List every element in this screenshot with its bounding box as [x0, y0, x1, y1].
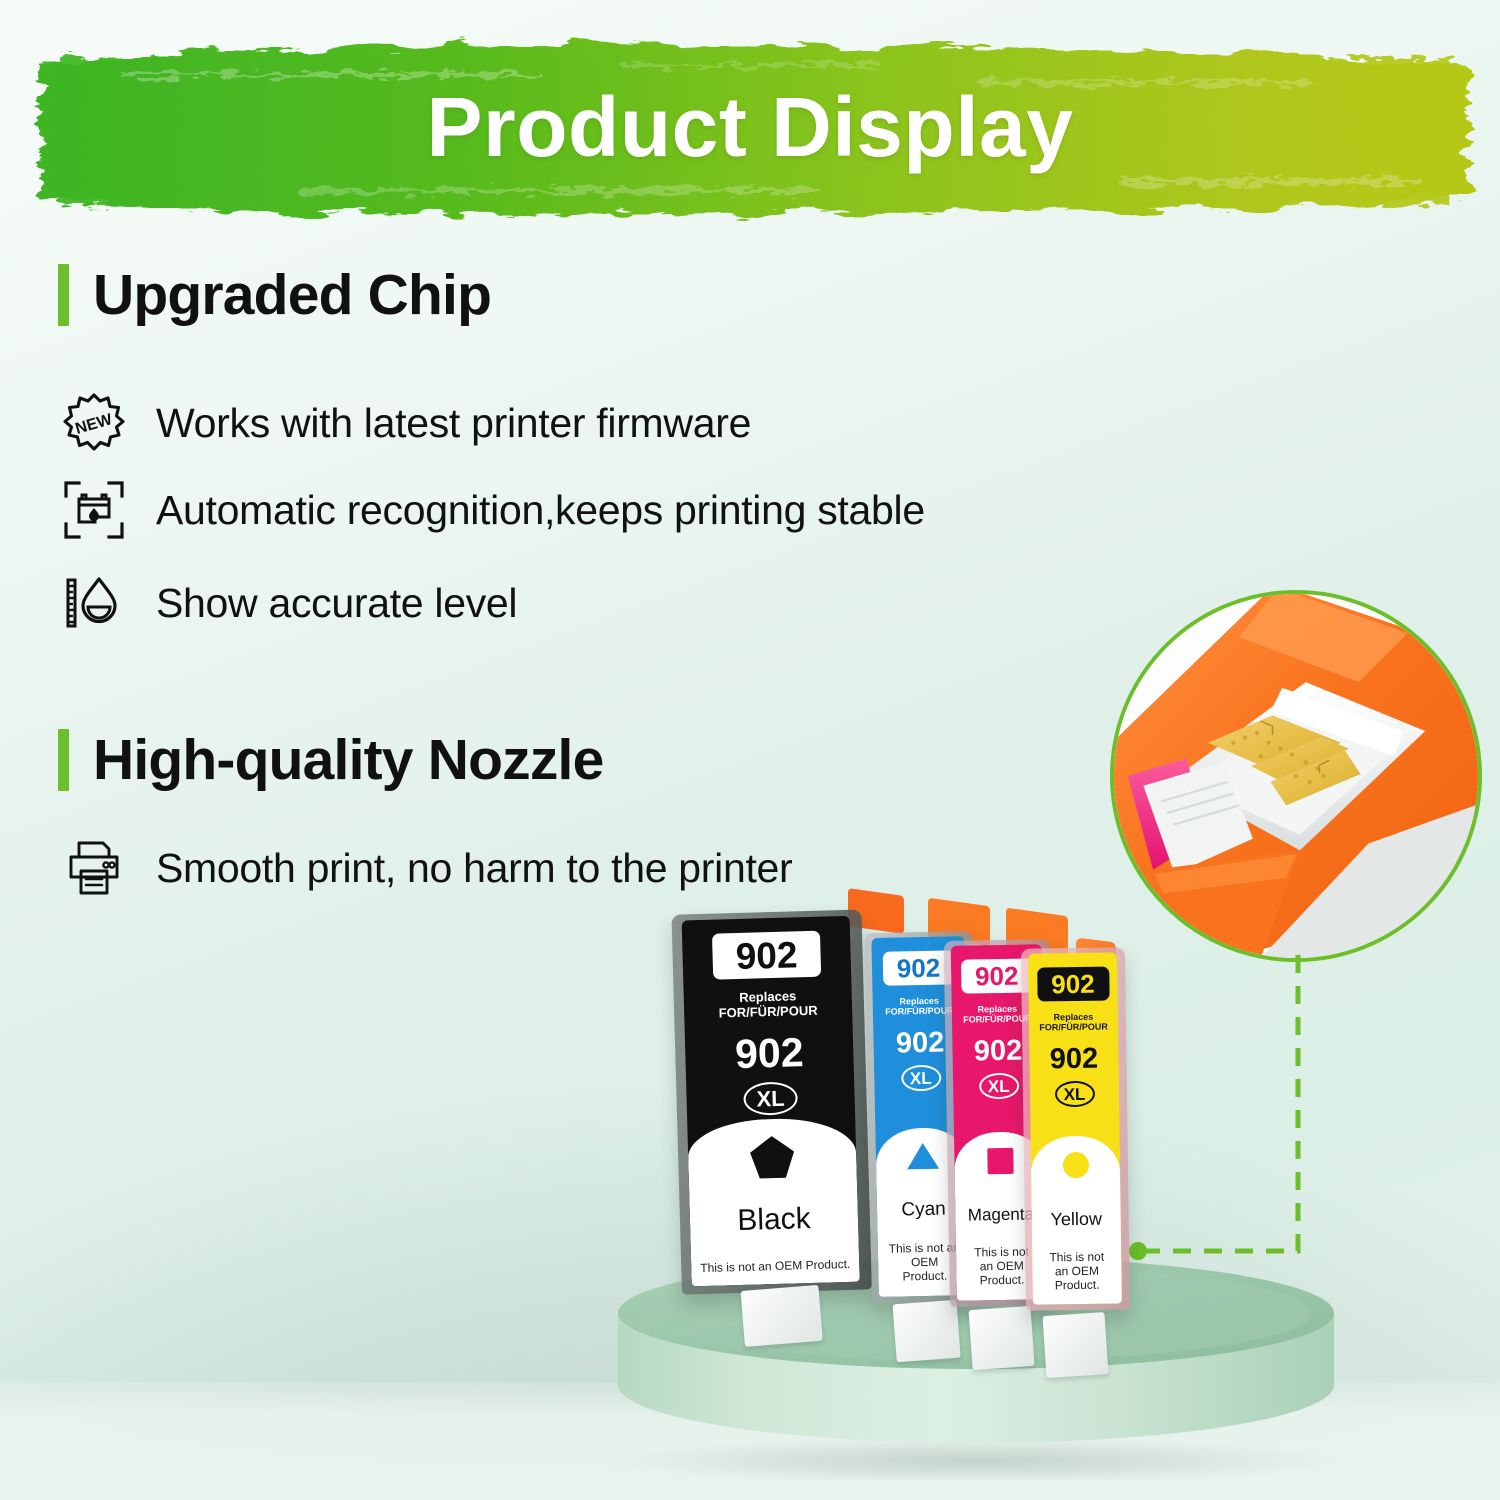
color-name: Black: [737, 1204, 811, 1236]
model-large: 902: [896, 1029, 945, 1059]
xl-badge: XL: [978, 1073, 1018, 1100]
replaces-text: Replaces FOR/FÜR/POUR: [1039, 1012, 1108, 1033]
heading-accent-bar: [58, 264, 69, 326]
cartridge-foot: [741, 1285, 823, 1347]
ink-level-gauge-icon: [58, 567, 130, 639]
cartridge-black[interactable]: 902 Replaces FOR/FÜR/POUR 902 XL Black T…: [671, 909, 872, 1294]
replaces-line2: FOR/FÜR/POUR: [719, 1003, 818, 1020]
color-name: Yellow: [1050, 1210, 1102, 1229]
cartridge-foot: [1043, 1312, 1109, 1378]
replaces-line2: FOR/FÜR/POUR: [1039, 1022, 1108, 1033]
scan-cartridge-icon: [58, 474, 130, 546]
model-large: 902: [974, 1037, 1023, 1067]
cartridge-label: 902 Replaces FOR/FÜR/POUR 902 XL Black T…: [682, 916, 860, 1287]
model-badge: 902: [1037, 967, 1109, 1002]
cartridge-label: 902 Replaces FOR/FÜR/POUR 902 XL Yellow …: [1028, 952, 1122, 1304]
ink-shape-pentagon: [749, 1134, 796, 1179]
heading-text: High-quality Nozzle: [93, 727, 603, 793]
printer-icon: [58, 832, 130, 904]
model-badge: 902: [712, 931, 821, 980]
section-heading-upgraded-chip: Upgraded Chip: [58, 262, 491, 328]
replaces-text: Replaces FOR/FÜR/POUR: [718, 989, 818, 1021]
ink-shape-triangle: [905, 1142, 940, 1171]
feature-label: Show accurate level: [156, 580, 517, 627]
feature-row-recognition: Automatic recognition,keeps printing sta…: [58, 474, 925, 546]
oem-notice: This is not an OEM Product.: [700, 1257, 850, 1275]
replaces-line2: FOR/FÜR/POUR: [885, 1005, 954, 1017]
xl-badge: XL: [901, 1065, 942, 1092]
cartridge-white-zone: Yellow This is not an OEM Product.: [1031, 1135, 1122, 1304]
heading-text: Upgraded Chip: [93, 262, 491, 328]
heading-accent-bar: [58, 729, 69, 791]
xl-badge: XL: [743, 1081, 798, 1115]
model-large: 902: [735, 1032, 805, 1075]
replaces-text: Replaces FOR/FÜR/POUR: [885, 995, 954, 1017]
model-large: 902: [1050, 1045, 1099, 1075]
cartridge-white-zone: Black This is not an OEM Product.: [687, 1117, 860, 1287]
banner: Product Display: [0, 28, 1500, 233]
xl-badge: XL: [1054, 1081, 1094, 1108]
feature-row-level: Show accurate level: [58, 567, 517, 639]
cartridge-foot: [893, 1300, 961, 1363]
cartridge-foot: [969, 1306, 1035, 1370]
ink-shape-square: [985, 1146, 1016, 1177]
oem-notice: This is not an OEM Product.: [1042, 1250, 1113, 1293]
feature-label: Works with latest printer firmware: [156, 400, 751, 447]
section-heading-high-quality-nozzle: High-quality Nozzle: [58, 727, 603, 793]
cartridge-group: 902 Replaces FOR/FÜR/POUR 902 XL Black T…: [676, 880, 1196, 1350]
new-badge-icon: NEW: [58, 387, 130, 459]
svg-text:NEW: NEW: [74, 411, 115, 438]
feature-label: Automatic recognition,keeps printing sta…: [156, 487, 925, 534]
feature-row-firmware: NEW Works with latest printer firmware: [58, 387, 751, 459]
cartridge-yellow[interactable]: 902 Replaces FOR/FÜR/POUR 902 XL Yellow …: [1021, 947, 1130, 1310]
color-name: Cyan: [901, 1200, 946, 1220]
ink-shape-circle: [1060, 1150, 1090, 1180]
page-title: Product Display: [0, 28, 1500, 233]
